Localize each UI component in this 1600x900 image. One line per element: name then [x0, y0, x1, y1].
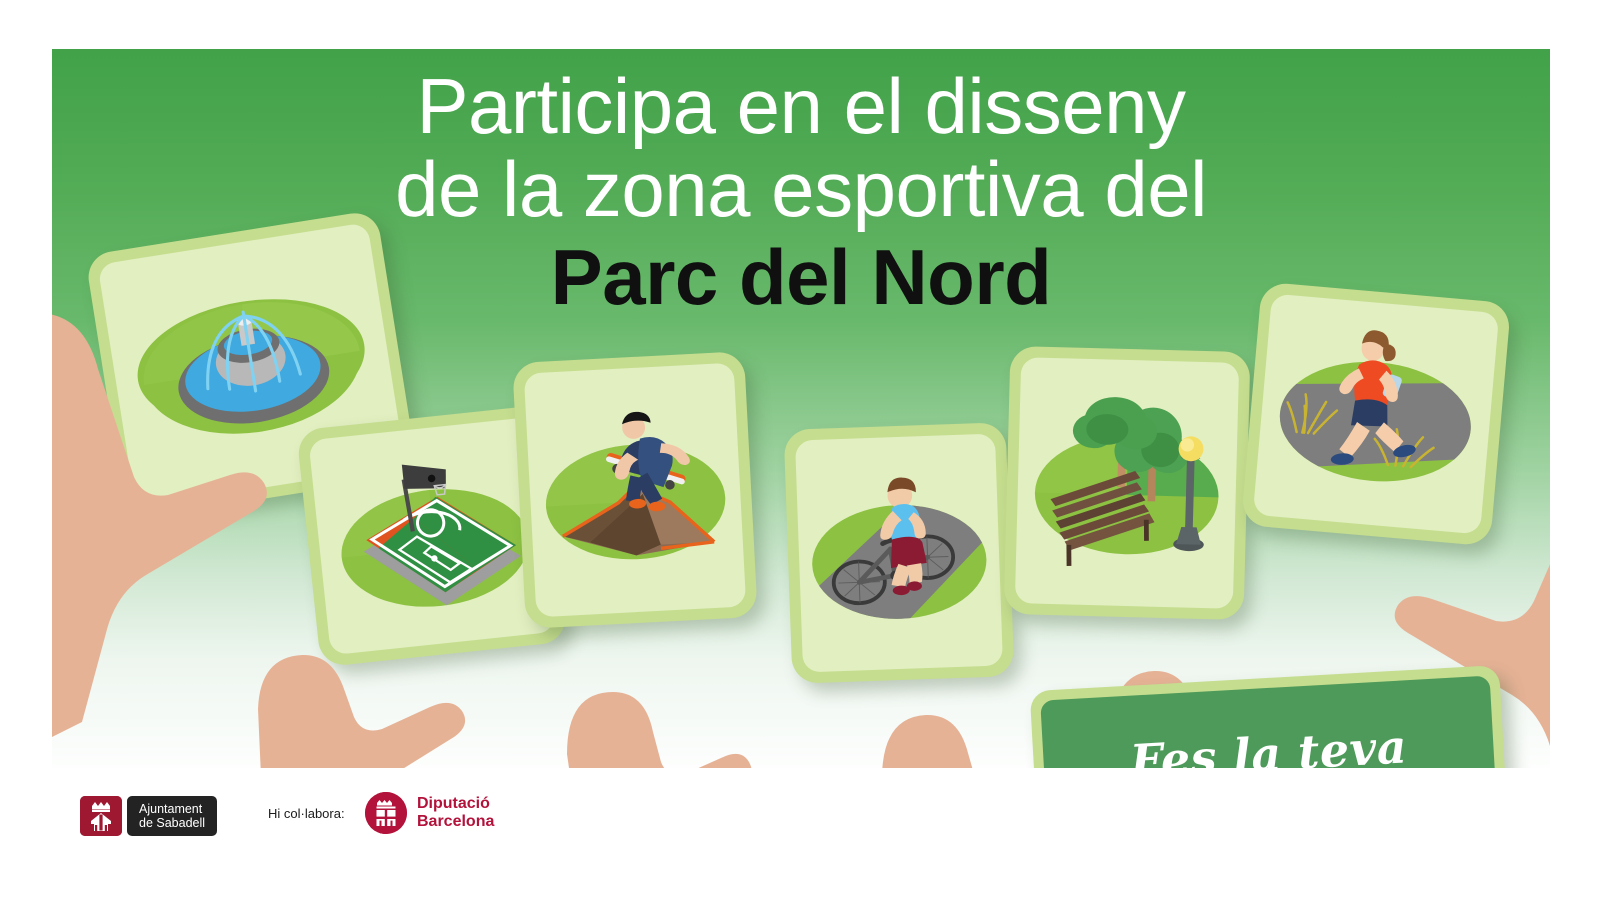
sabadell-crest-icon — [80, 796, 122, 836]
headline-line-2: de la zona esportiva del — [52, 148, 1550, 231]
logo-diputacio-barcelona[interactable]: Diputació Barcelona — [365, 792, 494, 834]
poster-canvas: Participa en el disseny de la zona espor… — [0, 0, 1600, 900]
logo-ajuntament-sabadell[interactable]: Ajuntament de Sabadell — [80, 796, 217, 836]
hand-left-inner — [252, 469, 512, 768]
banner-background: Participa en el disseny de la zona espor… — [52, 49, 1550, 768]
diputacio-wordmark: Diputació Barcelona — [417, 795, 494, 831]
footer-logos: Ajuntament de Sabadell Hi col·labora: — [0, 768, 1600, 900]
hand-center-left — [547, 544, 777, 768]
collaborates-label: Hi col·labora: — [268, 806, 345, 821]
diputacio-crest-icon — [365, 792, 407, 834]
diputacio-line-2: Barcelona — [417, 813, 494, 830]
headline-line-1: Participa en el disseny — [52, 65, 1550, 148]
sabadell-line-1: Ajuntament — [139, 802, 205, 816]
diputacio-line-1: Diputació — [417, 795, 490, 812]
sabadell-wordmark: Ajuntament de Sabadell — [127, 796, 217, 836]
sabadell-line-2: de Sabadell — [139, 816, 205, 830]
